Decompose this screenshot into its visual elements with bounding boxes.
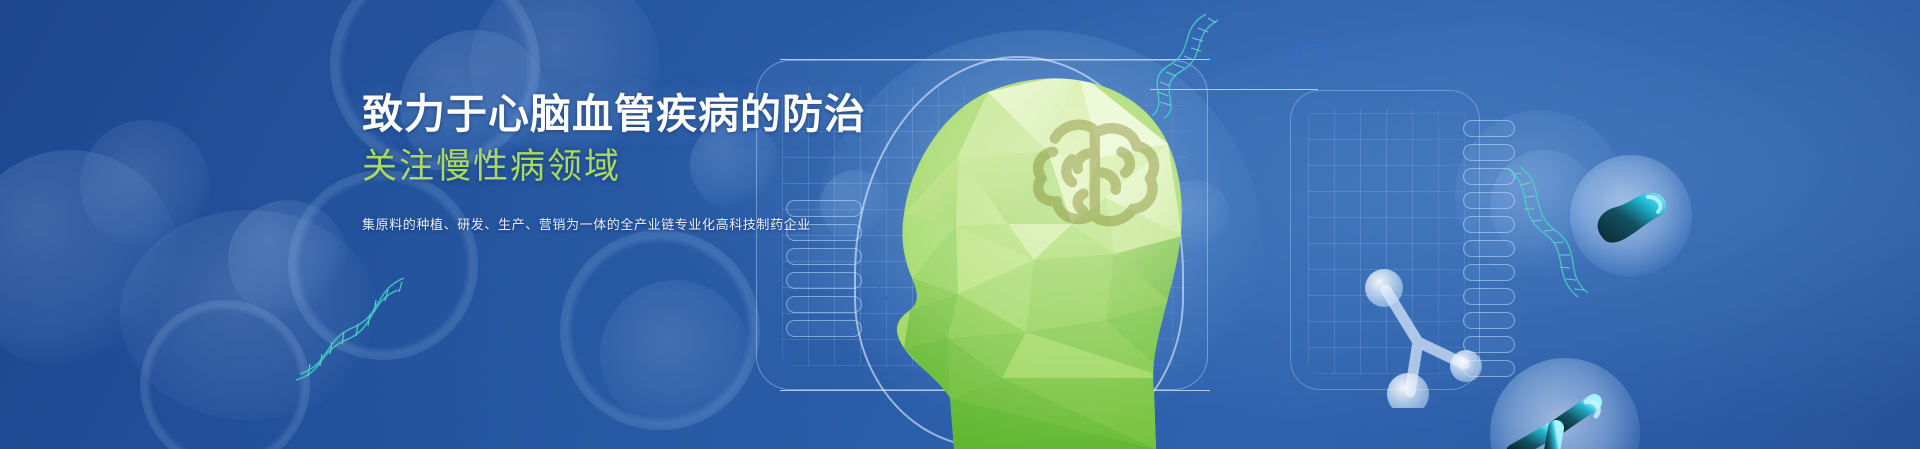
bokeh-circle (80, 120, 210, 250)
hud-bar (1463, 312, 1515, 329)
hud-bar (1463, 144, 1515, 161)
hud-bar (1463, 240, 1515, 257)
rod-bacteria-cell (1570, 155, 1692, 277)
hud-panel-right (1290, 90, 1480, 390)
banner-subheadline: 关注慢性病领域 (362, 147, 882, 187)
hud-bar-group-right (1463, 120, 1515, 377)
hero-banner: 致力于心脑血管疾病的防治 关注慢性病领域 集原料的种植、研发、生产、营销为一体的… (0, 0, 1920, 449)
hud-bar (1463, 264, 1515, 281)
banner-headline: 致力于心脑血管疾病的防治 (362, 92, 882, 138)
bokeh-circle (0, 150, 180, 370)
hud-bar (1463, 216, 1515, 233)
hud-grid-right (1308, 108, 1466, 374)
rod-bacteria-icon (1570, 155, 1692, 277)
banner-tagline: 集原料的种植、研发、生产、营销为一体的全产业链专业化高科技制药企业 (362, 215, 882, 235)
bokeh-circle (120, 210, 380, 420)
particle-cluster-icon (1288, 40, 1330, 70)
bokeh-circle (600, 280, 750, 430)
bokeh-circle (228, 200, 348, 320)
banner-copy: 致力于心脑血管疾病的防治 关注慢性病领域 集原料的种植、研发、生产、营销为一体的… (362, 92, 882, 234)
hud-bar (1463, 192, 1515, 209)
head-figure (838, 48, 1258, 449)
hud-bar (1463, 336, 1515, 353)
hud-bar (1463, 288, 1515, 305)
bokeh-ring (560, 230, 760, 430)
dna-helix-icon (278, 272, 408, 382)
bokeh-ring (140, 300, 310, 449)
hud-bar (1463, 168, 1515, 185)
hud-bar (1463, 120, 1515, 137)
low-poly-head-svg (838, 48, 1258, 449)
y-shaped-antibody-cell (1490, 358, 1640, 449)
antibody-icon (1490, 358, 1640, 449)
